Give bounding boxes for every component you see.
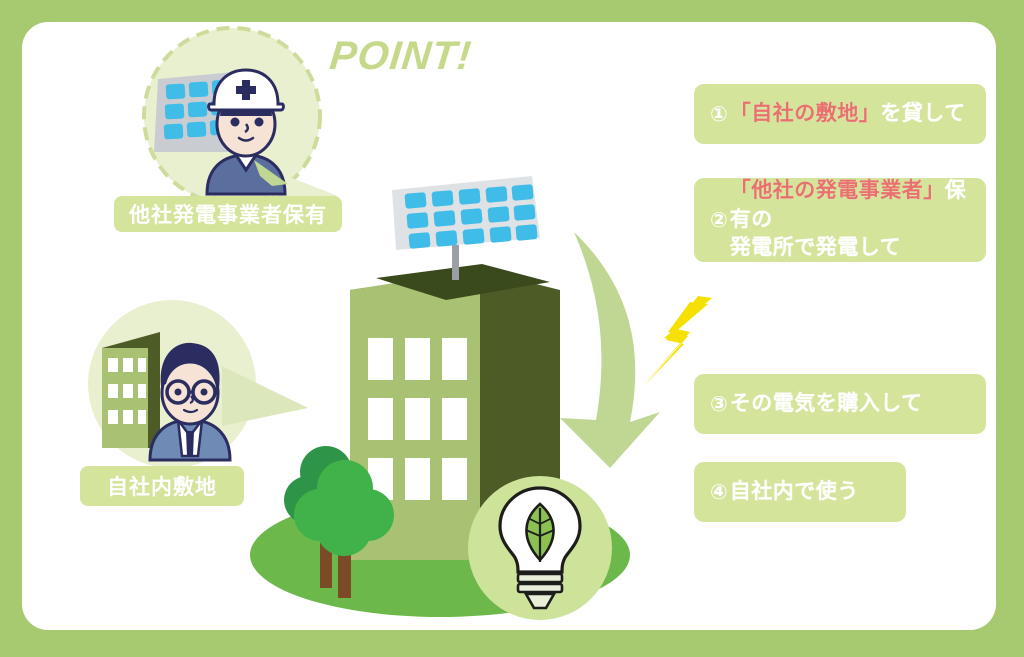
- step-highlight-2: 「他社の発電事業者」: [730, 179, 945, 202]
- step-box-3[interactable]: ③ その電気を購入して: [694, 374, 986, 434]
- step-box-1[interactable]: ① 「自社の敷地」を貸して: [694, 84, 986, 144]
- step-label-4: 自社内で使う: [730, 478, 859, 506]
- step-number-2: ②: [710, 208, 728, 233]
- step-number-3: ③: [710, 392, 728, 417]
- step-box-2[interactable]: ② 「他社の発電事業者」保有の発電所で発電して: [694, 178, 986, 262]
- solar-panel-icon: [392, 176, 540, 280]
- arrow-accent-icon: [254, 158, 294, 198]
- page-title: POINT!: [328, 34, 474, 79]
- eco-lightbulb-icon: [468, 476, 612, 620]
- step-label-1: 「自社の敷地」を貸して: [730, 100, 966, 128]
- step-label-2: 「他社の発電事業者」保有の発電所で発電して: [730, 177, 986, 262]
- step-label-3: その電気を購入して: [730, 390, 923, 418]
- office-building-icon: [102, 332, 160, 448]
- step-line2-2: 発電所で発電して: [730, 236, 901, 259]
- step-box-4[interactable]: ④ 自社内で使う: [694, 462, 906, 522]
- step-number-1: ①: [710, 102, 728, 127]
- step-post-1: を貸して: [880, 102, 965, 125]
- step-number-4: ④: [710, 480, 728, 505]
- step-highlight-1: 「自社の敷地」: [730, 102, 881, 125]
- infographic-canvas: POINT!: [0, 0, 1024, 657]
- label-own-site: 自社内敷地: [80, 466, 244, 506]
